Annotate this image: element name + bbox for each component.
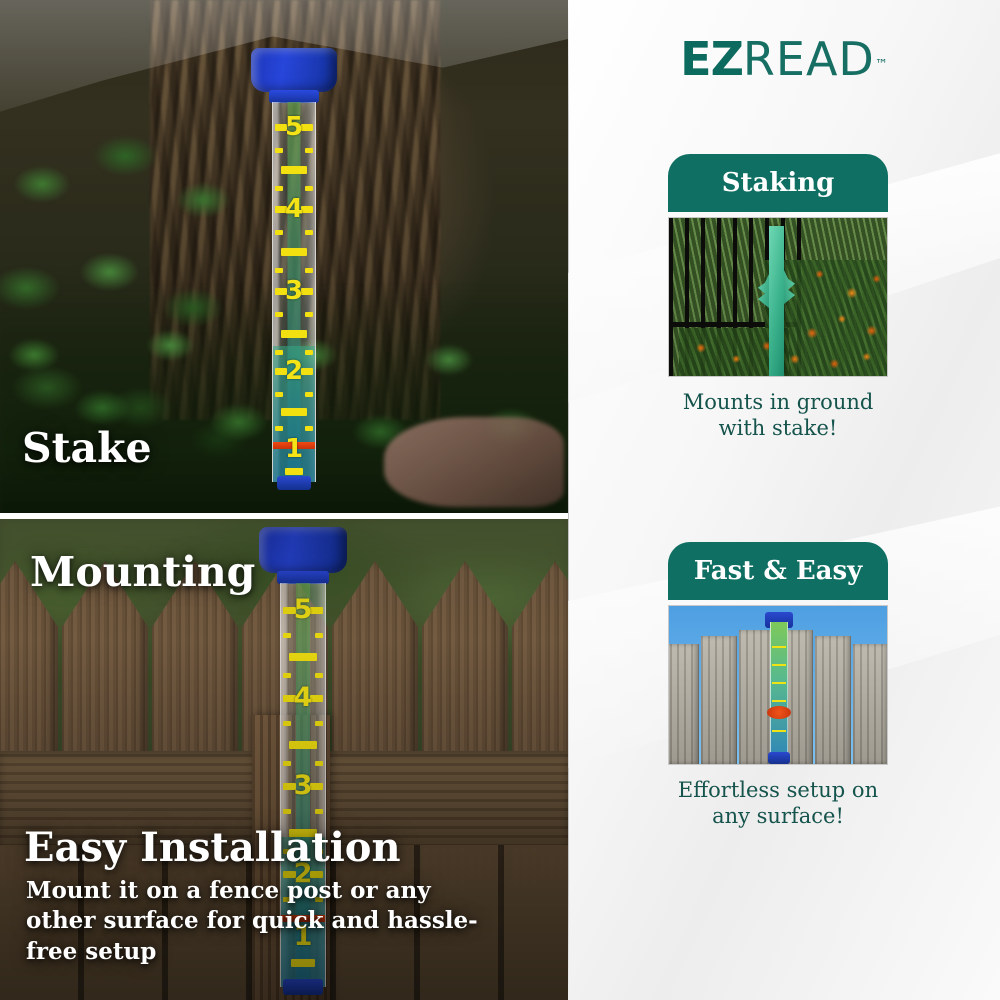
gauge-base	[277, 476, 311, 490]
gauge-tick	[305, 350, 313, 355]
gauge-tick	[275, 186, 283, 191]
gauge-number: 1	[285, 436, 303, 462]
card-caption-fast-easy: Effortless setup on any surface!	[668, 777, 888, 830]
gauge-tick	[772, 682, 786, 684]
gauge-major-tick	[281, 248, 307, 256]
gauge-tick	[275, 426, 283, 431]
mounting-label: Mounting	[30, 548, 255, 596]
easy-installation-body: Mount it on a fence post or any other su…	[26, 876, 496, 967]
card-photo-fast-easy	[668, 605, 888, 765]
gauge-tick	[305, 426, 313, 431]
gauge-tick	[275, 392, 283, 397]
product-infographic: 5 4 3	[0, 0, 1000, 1000]
gauge-tick	[772, 646, 786, 648]
stake-photo: 5 4 3	[0, 0, 568, 513]
gauge-tick	[772, 664, 786, 666]
rain-gauge-staked: 5 4 3	[248, 48, 340, 488]
fence-board	[815, 636, 851, 764]
card-header-fast-easy: Fast & Easy	[668, 542, 888, 600]
gauge-tick	[305, 148, 313, 153]
gauge-base	[768, 752, 790, 764]
card-photo-staking	[668, 217, 888, 377]
ezread-logo: EZREAD™	[568, 32, 1000, 86]
gauge-funnel	[251, 48, 337, 92]
gauge-tick	[275, 148, 283, 153]
gauge-tick	[275, 312, 283, 317]
gauge-tick	[305, 230, 313, 235]
green-garden-stake	[769, 226, 784, 377]
gauge-number: 2	[285, 358, 303, 384]
gauge-tick	[275, 268, 283, 273]
gauge-number: 5	[285, 114, 303, 140]
fence-board	[668, 644, 699, 764]
gauge-major-tick	[281, 166, 307, 174]
fence-board	[853, 644, 888, 764]
column-divider	[568, 0, 569, 1000]
gauge-red-band	[767, 706, 791, 719]
left-photo-column: 5 4 3	[0, 0, 568, 1000]
gauge-tick	[305, 312, 313, 317]
gauge-tube	[770, 622, 788, 760]
gauge-tick	[305, 186, 313, 191]
card-caption-staking: Mounts in ground with stake!	[668, 389, 888, 442]
right-feature-column: EZREAD™	[568, 0, 1000, 1000]
gauge-major-tick	[285, 468, 303, 475]
logo-ez-text: EZ	[680, 32, 743, 86]
gauge-tick	[305, 268, 313, 273]
gauge-tick	[772, 700, 786, 702]
gauge-major-tick	[281, 330, 307, 338]
fence-board	[701, 636, 737, 764]
gauge-tick	[275, 230, 283, 235]
gauge-major-tick	[281, 408, 307, 416]
stone	[384, 417, 564, 507]
card-header-staking: Staking	[668, 154, 888, 212]
gauge-number: 4	[285, 196, 303, 222]
feature-card-staking: Staking Mounts in ground with stake!	[668, 154, 888, 442]
gauge-number: 3	[285, 278, 303, 304]
easy-installation-headline: Easy Installation	[24, 824, 401, 871]
gauge-tick	[305, 392, 313, 397]
gauge-tube: 5 4 3	[272, 102, 316, 482]
feature-card-fast-easy: Fast & Easy Effortless setup on any surf…	[668, 542, 888, 830]
gauge-tick	[275, 350, 283, 355]
trademark-icon: ™	[875, 58, 888, 73]
stake-label: Stake	[22, 424, 152, 472]
gauge-tick	[772, 730, 786, 732]
logo-read-text: READ	[743, 32, 875, 86]
